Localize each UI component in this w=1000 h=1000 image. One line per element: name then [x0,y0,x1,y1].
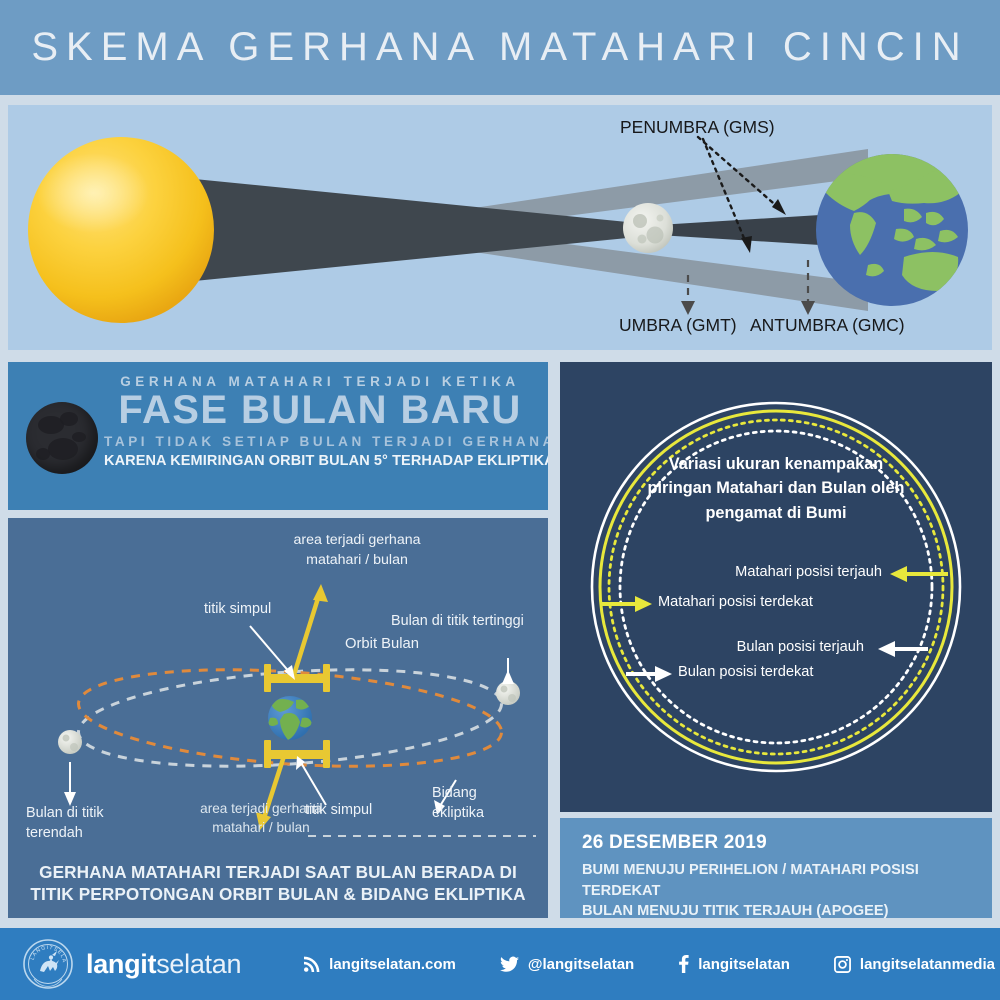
moon-low [58,730,82,754]
new-moon-phase-panel: GERHANA MATAHARI TERJADI KETIKA FASE BUL… [8,362,548,510]
label-ecliptic-plane: Bidang ekliptika [432,783,484,823]
newmoon-eyebrow: GERHANA MATAHARI TERJADI KETIKA [104,374,536,389]
page-header: SKEMA GERHANA MATAHARI CINCIN [0,0,1000,95]
event-date: 26 DESEMBER 2019 [582,832,992,854]
footer-link-instagram-label: langitselatanmedia [860,956,995,973]
penumbra-arrowhead-2 [741,236,752,253]
penumbra-arrowhead-1 [772,199,786,215]
new-moon-icon [26,402,98,474]
footer-link-facebook-label: langitselatan [698,956,790,973]
infographic-page: SKEMA GERHANA MATAHARI CINCIN [0,0,1000,1000]
footer-link-website-label: langitselatan.com [329,956,456,973]
footer-link-twitter[interactable]: @langitselatan [500,956,634,973]
footer-link-website[interactable]: langitselatan.com [303,956,456,973]
arrowhead-moon-high [502,670,514,684]
footer-links: langitselatan.com @langitselatan langits… [303,955,995,973]
page-title: SKEMA GERHANA MATAHARI CINCIN [31,25,968,70]
label-moon-far: Bulan posisi terjauh [737,639,864,655]
lunar-orbit-svg [8,518,548,918]
brand-wordmark-light: selatan [156,949,241,979]
umbra-arrowhead [681,301,695,315]
event-date-panel: 26 DESEMBER 2019 BUMI MENUJU PERIHELION … [560,818,992,918]
arrow-sun-far [890,566,948,582]
brand-wordmark: langitselatan [86,949,241,980]
newmoon-subline: TAPI TIDAK SETIAP BULAN TERJADI GERHANA [104,434,536,449]
rss-icon [303,956,320,973]
label-node-bottom: titik simpul [305,802,372,818]
antumbra-shadow [658,215,820,245]
label-sun-far: Matahari posisi terjauh [735,564,882,580]
langitselatan-seal-logo: LANGITSELATAN [22,938,74,990]
apparent-size-variation-panel: Variasi ukuran kenampakan piringan Matah… [560,362,992,812]
footer-link-facebook[interactable]: langitselatan [678,955,790,973]
eclipse-area-arrow-top [293,595,319,678]
facebook-icon [678,955,689,973]
label-moon-low: Bulan di titik terendah [26,803,104,843]
circles-headline: Variasi ukuran kenampakan piringan Matah… [606,452,946,525]
label-moon-near: Bulan posisi terdekat [678,664,813,680]
label-antumbra: ANTUMBRA (GMC) [750,315,905,336]
moon [623,203,673,253]
label-node-top: titik simpul [204,601,271,617]
antumbra-arrowhead [801,301,815,315]
page-footer: LANGITSELATAN langitselatan [0,928,1000,1000]
earth-small [268,696,312,740]
label-moon-high: Bulan di titik tertinggi [391,613,524,629]
label-umbra: UMBRA (GMT) [619,315,737,336]
label-orbit-bulan: Orbit Bulan [345,636,419,652]
newmoon-headline: FASE BULAN BARU [104,390,536,431]
event-detail: BUMI MENUJU PERIHELION / MATAHARI POSISI… [582,860,992,918]
newmoon-note: KARENA KEMIRINGAN ORBIT BULAN 5° TERHADA… [104,453,536,469]
moon-high [496,681,520,705]
footer-link-instagram[interactable]: langitselatanmedia [834,956,995,973]
brand-lockup[interactable]: LANGITSELATAN langitselatan [22,938,241,990]
label-penumbra: PENUMBRA (GMS) [620,117,775,138]
eclipse-geometry-panel: PENUMBRA (GMS) UMBRA (GMT) ANTUMBRA (GMC… [8,105,992,350]
eclipse-area-arrowhead-top [313,584,328,602]
brand-wordmark-bold: langit [86,949,156,979]
orbit-panel-caption: GERHANA MATAHARI TERJADI SAAT BULAN BERA… [8,861,548,906]
twitter-icon [500,956,519,973]
sun [28,137,214,323]
label-sun-near: Matahari posisi terdekat [658,594,813,610]
lunar-orbit-panel: area terjadi gerhana matahari / bulan ti… [8,518,548,918]
apparent-size-svg [560,362,992,812]
label-eclipse-area-top: area terjadi gerhana matahari / bulan [272,531,442,570]
footer-link-twitter-label: @langitselatan [528,956,634,973]
instagram-icon [834,956,851,973]
centaur-figure [40,951,59,972]
eclipse-geometry-svg [8,105,992,350]
